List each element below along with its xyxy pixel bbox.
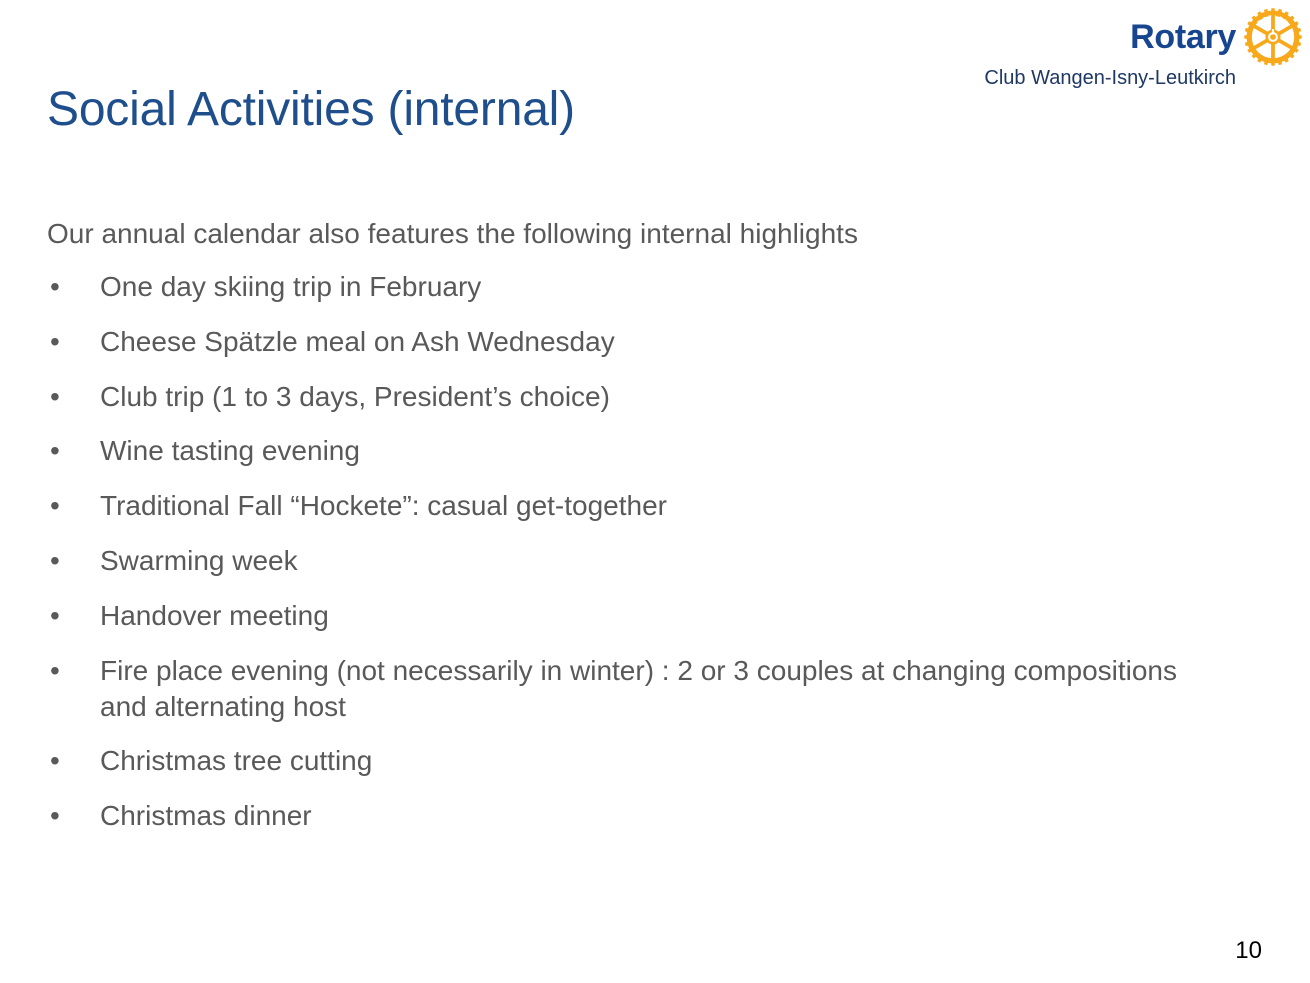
bullet-icon: • [50, 379, 60, 415]
list-item: • Fire place evening (not necessarily in… [47, 653, 1227, 725]
rotary-club-subtitle: Club Wangen-Isny-Leutkirch [984, 67, 1236, 89]
bullet-icon: • [50, 433, 60, 469]
list-item: • Handover meeting [47, 598, 1227, 634]
list-item-label: Wine tasting evening [100, 433, 1227, 469]
list-item-label: Traditional Fall “Hockete”: casual get-t… [100, 488, 1227, 524]
bullet-icon: • [50, 269, 60, 305]
list-item-label: Fire place evening (not necessarily in w… [100, 653, 1227, 725]
list-item-label: Handover meeting [100, 598, 1227, 634]
list-item-label: One day skiing trip in February [100, 269, 1227, 305]
page-title: Social Activities (internal) [47, 82, 575, 137]
bullet-icon: • [50, 598, 60, 634]
list-item: • Christmas dinner [47, 798, 1227, 834]
page-number: 10 [1235, 937, 1262, 965]
intro-paragraph: Our annual calendar also features the fo… [47, 216, 1227, 251]
bullet-icon: • [50, 743, 60, 779]
bullet-icon: • [50, 488, 60, 524]
slide: Rotary [0, 0, 1310, 983]
bullet-list: • One day skiing trip in February • Chee… [47, 269, 1227, 834]
bullet-icon: • [50, 543, 60, 579]
list-item-label: Christmas tree cutting [100, 743, 1227, 779]
list-item: • Traditional Fall “Hockete”: casual get… [47, 488, 1227, 524]
body-content: Our annual calendar also features the fo… [47, 216, 1227, 834]
list-item: • Wine tasting evening [47, 433, 1227, 469]
rotary-wordmark: Rotary [1130, 20, 1236, 54]
rotary-logo: Rotary [984, 8, 1302, 89]
list-item-label: Cheese Spätzle meal on Ash Wednesday [100, 324, 1227, 360]
list-item: • One day skiing trip in February [47, 269, 1227, 305]
list-item: • Swarming week [47, 543, 1227, 579]
list-item-label: Club trip (1 to 3 days, President’s choi… [100, 379, 1227, 415]
list-item: • Club trip (1 to 3 days, President’s ch… [47, 379, 1227, 415]
list-item: • Christmas tree cutting [47, 743, 1227, 779]
list-item-label: Swarming week [100, 543, 1227, 579]
bullet-icon: • [50, 324, 60, 360]
list-item: • Cheese Spätzle meal on Ash Wednesday [47, 324, 1227, 360]
logo-row: Rotary [1130, 8, 1302, 66]
bullet-icon: • [50, 798, 60, 834]
bullet-icon: • [50, 653, 60, 689]
rotary-wheel-icon: ROTARY INTERNATIONAL [1244, 8, 1302, 66]
list-item-label: Christmas dinner [100, 798, 1227, 834]
